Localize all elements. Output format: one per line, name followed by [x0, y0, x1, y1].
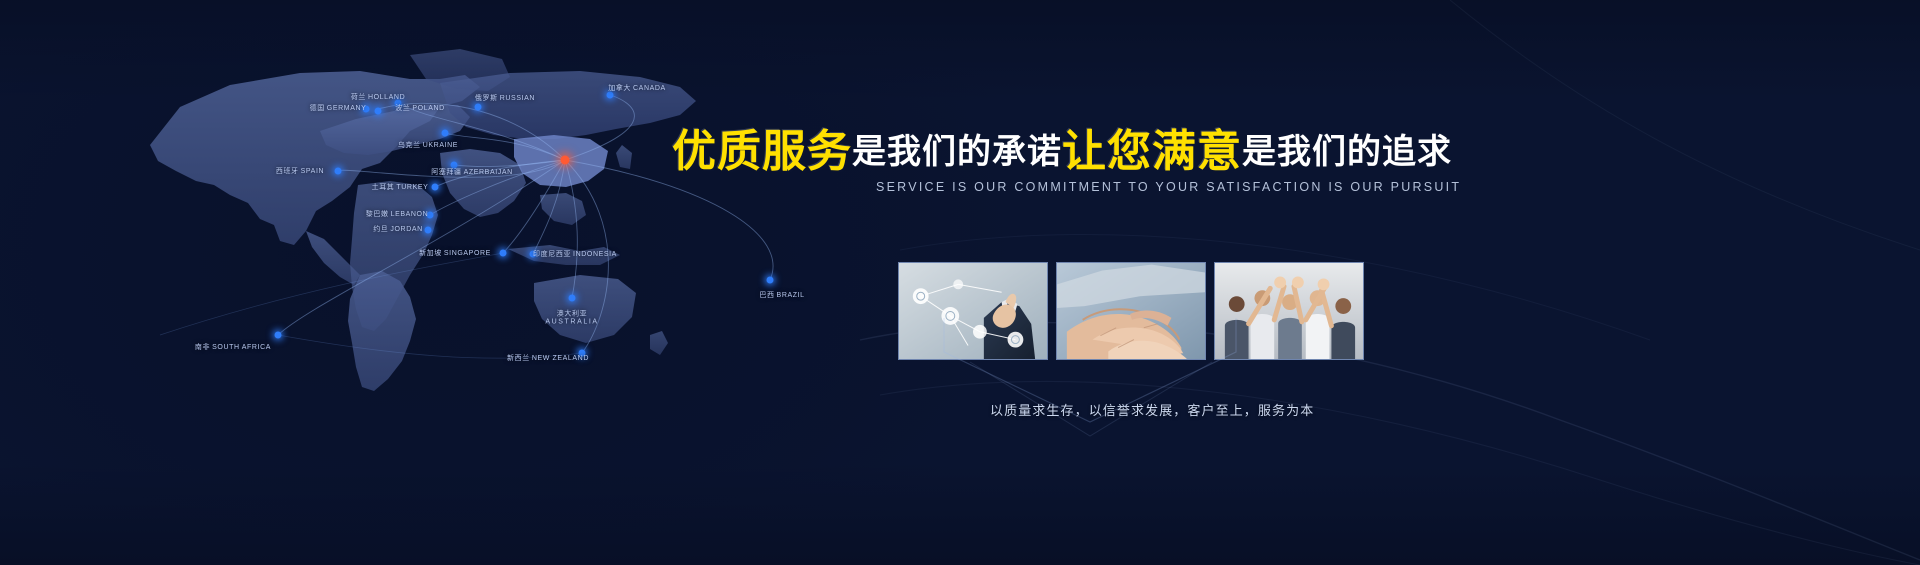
map-label-cn: 乌克兰 [398, 142, 421, 149]
photo-touchscreen-network-image [899, 263, 1047, 359]
map-label-turkey: 土耳其TURKEY [372, 182, 429, 192]
map-label-cn: 新西兰 [507, 355, 530, 362]
map-label-en: AUSTRALIA [545, 319, 598, 326]
map-dot [475, 104, 482, 111]
map-label-cn: 荷兰 [351, 94, 366, 101]
map-label-australia: 澳大利亚 AUSTRALIA [545, 309, 598, 326]
map-label-canada: 加拿大CANADA [608, 83, 666, 93]
headline-subtitle: SERVICE IS OUR COMMITMENT TO YOUR SATISF… [876, 180, 1420, 194]
map-label-en: BRAZIL [777, 292, 805, 299]
world-map: 荷兰HOLLAND 德国GERMANY 波兰POLAND 俄罗斯RUSSIAN … [110, 35, 900, 425]
map-label-cn: 西班牙 [276, 168, 299, 175]
photo-hands-together[interactable] [1056, 262, 1206, 360]
map-dot-china-hub [561, 156, 570, 165]
map-label-cn: 印度尼西亚 [533, 251, 571, 258]
map-label-en: NEW ZEALAND [532, 355, 589, 362]
map-label-en: POLAND [412, 105, 444, 112]
map-label-azerbaijan: 阿塞拜疆AZERBAIJAN [431, 167, 513, 177]
map-label-en: SINGAPORE [444, 250, 491, 257]
map-label-brazil: 巴西BRAZIL [759, 290, 804, 300]
service-banner: 荷兰HOLLAND 德国GERMANY 波兰POLAND 俄罗斯RUSSIAN … [0, 0, 1920, 565]
map-dot [335, 168, 342, 175]
map-label-en: CANADA [633, 85, 666, 92]
photo-team-highfive-image [1215, 263, 1363, 359]
map-label-cn: 澳大利亚 [545, 309, 598, 319]
map-dot [767, 277, 774, 284]
map-dot [569, 295, 576, 302]
map-label-ukraine: 乌克兰UKRAINE [398, 140, 458, 150]
headline-highlight-2: 让您满意 [1062, 130, 1242, 174]
map-label-cn: 波兰 [395, 105, 410, 112]
map-label-indonesia: 印度尼西亚INDONESIA [533, 249, 617, 259]
map-dot [375, 108, 382, 115]
map-dot [442, 130, 449, 137]
tagline: 以质量求生存，以信誉求发展，客户至上，服务为本 [990, 400, 1314, 419]
map-label-cn: 约旦 [373, 226, 388, 233]
map-label-en: HOLLAND [368, 94, 405, 101]
map-dot [432, 184, 439, 191]
map-label-poland: 波兰POLAND [395, 103, 445, 113]
map-label-en: TURKEY [396, 184, 428, 191]
map-label-en: INDONESIA [573, 251, 617, 258]
map-label-south-africa: 南非SOUTH AFRICA [195, 342, 271, 352]
map-label-cn: 黎巴嫩 [366, 211, 389, 218]
map-label-cn: 加拿大 [608, 85, 631, 92]
headline: 优质服务 是我们的承诺 让您满意 是我们的追求 [672, 124, 1392, 180]
map-label-germany: 德国GERMANY [310, 103, 367, 113]
map-label-spain: 西班牙SPAIN [276, 166, 324, 176]
map-label-cn: 新加坡 [419, 250, 442, 257]
map-label-cn: 德国 [310, 105, 325, 112]
map-label-cn: 阿塞拜疆 [431, 169, 461, 176]
photo-hands-together-image [1057, 263, 1205, 359]
photo-strip [898, 262, 1364, 360]
map-dot [500, 250, 507, 257]
map-label-cn: 俄罗斯 [475, 95, 498, 102]
map-label-en: UKRAINE [423, 142, 458, 149]
map-label-en: GERMANY [327, 105, 367, 112]
headline-highlight-1: 优质服务 [672, 130, 852, 174]
map-label-holland: 荷兰HOLLAND [351, 92, 405, 102]
map-label-lebanon: 黎巴嫩LEBANON [366, 209, 428, 219]
map-label-en: SPAIN [301, 168, 325, 175]
photo-touchscreen-network[interactable] [898, 262, 1048, 360]
map-label-cn: 土耳其 [372, 184, 395, 191]
photo-team-highfive[interactable] [1214, 262, 1364, 360]
map-label-en: RUSSIAN [500, 95, 535, 102]
map-label-cn: 南非 [195, 344, 210, 351]
map-label-en: AZERBAIJAN [464, 169, 513, 176]
headline-rest-2: 是我们的追求 [1242, 135, 1452, 169]
map-label-en: LEBANON [391, 211, 429, 218]
map-dot [275, 332, 282, 339]
map-label-en: JORDAN [390, 226, 422, 233]
map-dot [425, 227, 432, 234]
map-label-en: SOUTH AFRICA [212, 344, 271, 351]
map-label-singapore: 新加坡SINGAPORE [419, 248, 491, 258]
map-label-cn: 巴西 [759, 292, 774, 299]
map-label-new-zealand: 新西兰NEW ZEALAND [507, 353, 589, 363]
headline-rest-1: 是我们的承诺 [852, 135, 1062, 169]
map-label-russian: 俄罗斯RUSSIAN [475, 93, 535, 103]
map-label-jordan: 约旦JORDAN [373, 224, 423, 234]
